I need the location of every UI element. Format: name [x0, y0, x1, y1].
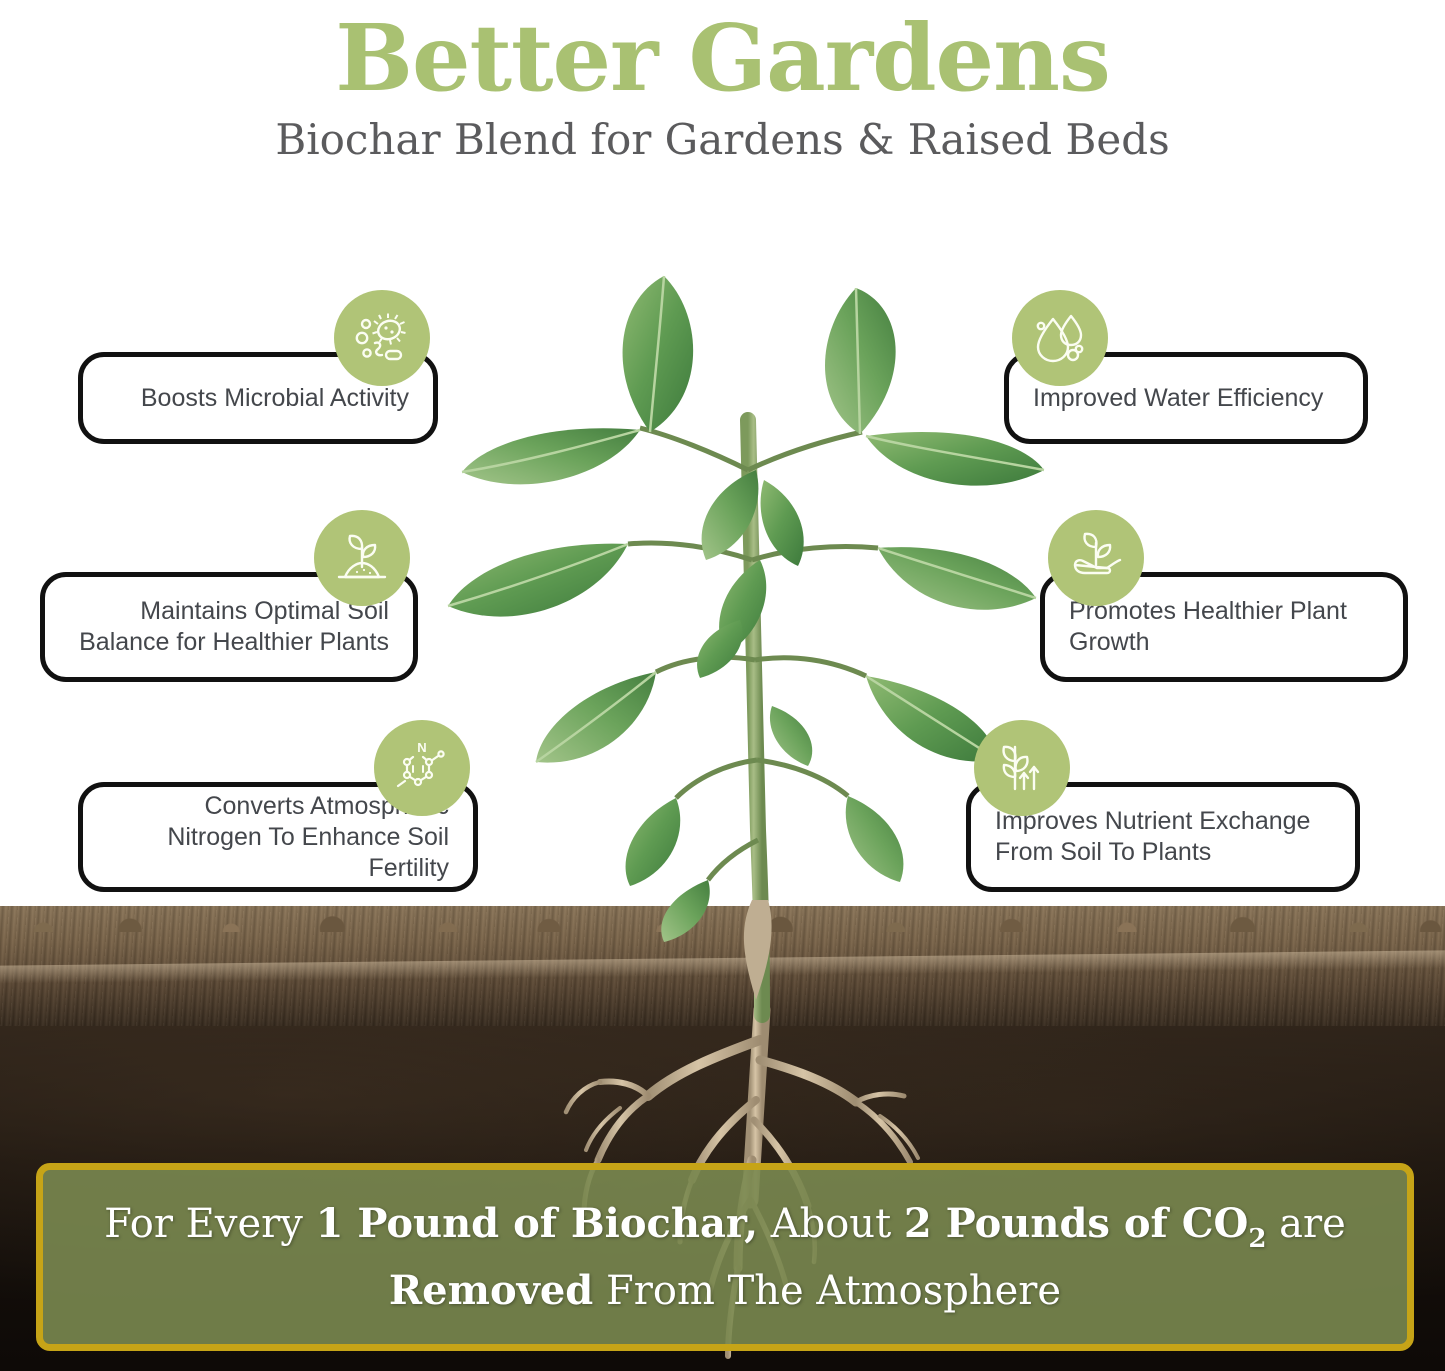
- feature-label: Boosts Microbial Activity: [107, 383, 409, 414]
- feature-promotes-healthier-plant-growth[interactable]: Promotes Healthier Plant Growth: [1040, 572, 1408, 682]
- banner-line1-post: are: [1266, 1201, 1345, 1247]
- infographic-poster: Better Gardens Biochar Blend for Gardens…: [0, 0, 1445, 1371]
- feature-label: Improved Water Efficiency: [1033, 383, 1339, 414]
- co2-fact-text: For Every 1 Pound of Biochar, About 2 Po…: [70, 1198, 1380, 1317]
- plant-growth-arrows-icon: [974, 720, 1070, 816]
- leaf-group: [628, 428, 878, 880]
- water-droplet-icon: [1012, 290, 1108, 386]
- feature-label: Maintains Optimal Soil Balance for Healt…: [69, 596, 389, 658]
- feature-boosts-microbial-activity[interactable]: Boosts Microbial Activity: [78, 352, 438, 444]
- nitrogen-molecule-icon: N: [374, 720, 470, 816]
- banner-line1-bold1: 1 Pound of Biochar,: [316, 1200, 758, 1247]
- hand-holding-sprout-icon: [1048, 510, 1144, 606]
- feature-label: Promotes Healthier Plant Growth: [1069, 596, 1379, 658]
- banner-line1-pre: For Every: [104, 1201, 315, 1247]
- feature-improved-water-efficiency[interactable]: Improved Water Efficiency: [1004, 352, 1368, 444]
- soil-surface-crumbs: [0, 906, 1445, 932]
- banner-line1-mid: About: [758, 1201, 904, 1247]
- svg-text:N: N: [417, 740, 426, 755]
- banner-line1-bold2: 2 Pounds of CO: [904, 1200, 1249, 1247]
- feature-converts-atmospheric-nitrogen[interactable]: N Converts Atmospheric Nitrogen To Enhan…: [78, 782, 478, 892]
- page-title: Better Gardens: [0, 0, 1445, 108]
- page-subtitle: Biochar Blend for Gardens & Raised Beds: [0, 108, 1445, 166]
- feature-label: Improves Nutrient Exchange From Soil To …: [995, 806, 1331, 868]
- feature-maintains-optimal-soil-balance[interactable]: Maintains Optimal Soil Balance for Healt…: [40, 572, 418, 682]
- banner-line2-bold: Removed: [389, 1267, 593, 1314]
- co2-fact-banner: For Every 1 Pound of Biochar, About 2 Po…: [36, 1163, 1414, 1351]
- feature-improves-nutrient-exchange[interactable]: Improves Nutrient Exchange From Soil To …: [966, 782, 1360, 892]
- banner-line2-post: From The Atmosphere: [593, 1268, 1061, 1314]
- microbe-icon: [334, 290, 430, 386]
- sprout-in-soil-icon: [314, 510, 410, 606]
- banner-co2-subscript: 2: [1248, 1224, 1266, 1254]
- plant-leaves: [448, 276, 1044, 942]
- header: Better Gardens Biochar Blend for Gardens…: [0, 0, 1445, 166]
